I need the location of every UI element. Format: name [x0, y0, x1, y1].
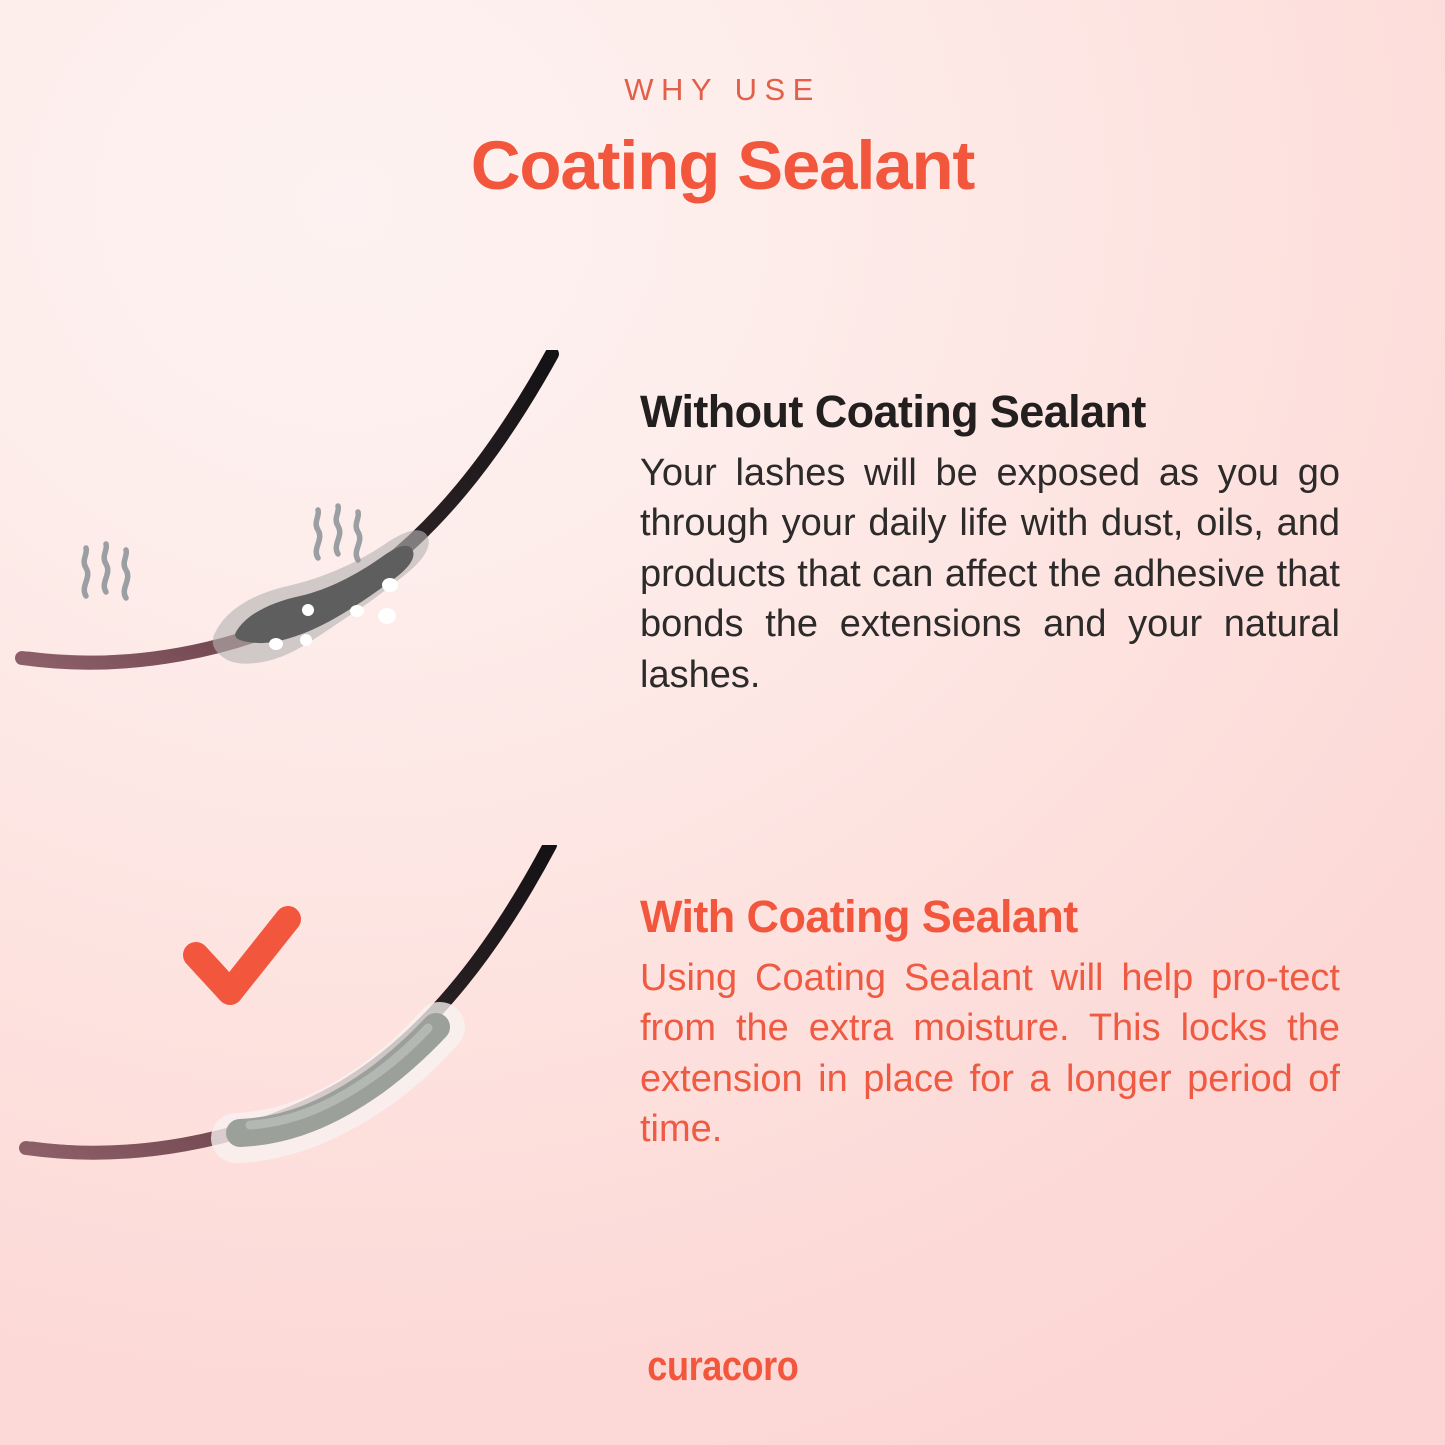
section-body-with: Using Coating Sealant will help pro-tect…: [640, 953, 1340, 1155]
adhesive-bubble: [350, 605, 364, 617]
section-title-without: Without Coating Sealant: [640, 388, 1340, 436]
with-coating-copy: With Coating Sealant Using Coating Seala…: [640, 845, 1340, 1155]
adhesive-bubble: [269, 638, 283, 650]
without-coating-copy: Without Coating Sealant Your lashes will…: [640, 350, 1340, 700]
section-with-coating-sealant: With Coating Sealant Using Coating Seala…: [0, 845, 1445, 1245]
section-body-without: Your lashes will be exposed as you go th…: [640, 448, 1340, 701]
adhesive-bubble: [300, 634, 312, 646]
steam-lines-group-right: [316, 506, 360, 560]
steam-lines-group-left: [84, 544, 128, 598]
header: WHY USE Coating Sealant: [0, 0, 1445, 200]
footer: curacoro: [0, 1345, 1445, 1387]
lash-with-exposed-adhesive-illustration: [0, 350, 640, 750]
adhesive-bubble: [378, 608, 396, 624]
section-title-with: With Coating Sealant: [640, 893, 1340, 941]
page-title: Coating Sealant: [0, 131, 1445, 200]
checkmark-icon: [196, 919, 288, 992]
section-without-coating-sealant: Without Coating Sealant Your lashes will…: [0, 350, 1445, 750]
brand-logo: curacoro: [647, 1345, 798, 1387]
eyebrow-text: WHY USE: [0, 74, 1445, 105]
lash-with-sealant-coating-illustration: [0, 845, 640, 1245]
adhesive-bubble: [302, 604, 314, 616]
adhesive-bubble: [382, 578, 398, 592]
infographic-canvas: WHY USE Coating Sealant: [0, 0, 1445, 1445]
